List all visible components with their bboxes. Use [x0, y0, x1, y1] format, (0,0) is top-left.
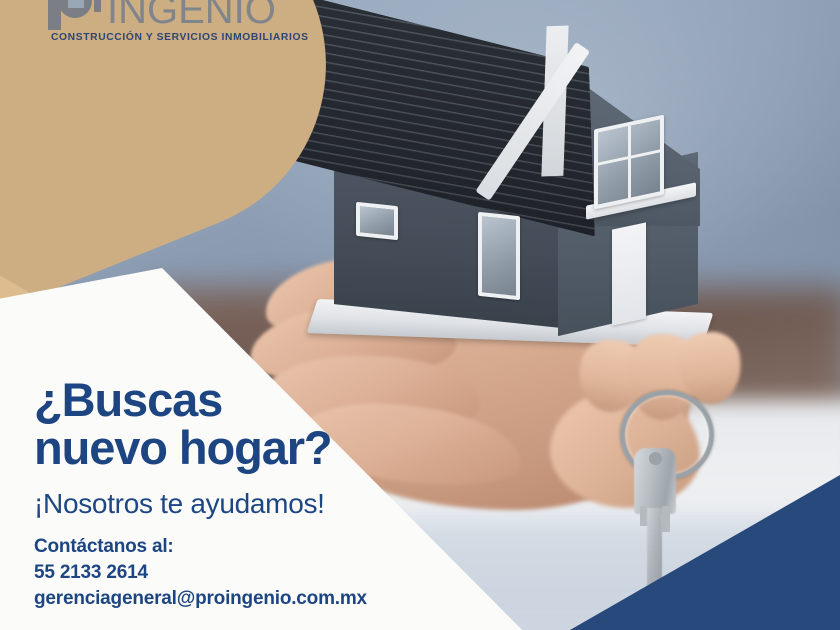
- page-title: ¿Buscas nuevo hogar?: [34, 376, 504, 472]
- contact-phone[interactable]: 55 2133 2614: [34, 560, 504, 586]
- subheadline: ¡Nosotros te ayudamos!: [34, 488, 504, 520]
- house-window-small: [356, 202, 398, 240]
- house-window-gable: [594, 115, 664, 210]
- logo-lockup: INGENIO: [48, 0, 348, 30]
- house-key-hole: [649, 452, 662, 465]
- house-door: [612, 222, 646, 325]
- proingenio-p-mark-icon: [48, 0, 102, 30]
- house-window-tall: [478, 212, 520, 300]
- logo-tagline: CONSTRUCCIÓN Y SERVICIOS INMOBILIARIOS: [51, 32, 348, 43]
- contact-label: Contáctanos al:: [34, 534, 504, 560]
- copy-block: ¿Buscas nuevo hogar? ¡Nosotros te ayudam…: [34, 376, 504, 612]
- logo-wordmark: INGENIO: [107, 0, 276, 30]
- model-house: [300, 18, 720, 348]
- contact-email[interactable]: gerenciageneral@proingenio.com.mx: [34, 586, 504, 612]
- promo-poster: INGENIO CONSTRUCCIÓN Y SERVICIOS INMOBIL…: [0, 0, 840, 630]
- contact-block: Contáctanos al: 55 2133 2614 gerenciagen…: [34, 534, 504, 612]
- brand-logo[interactable]: INGENIO CONSTRUCCIÓN Y SERVICIOS INMOBIL…: [48, 0, 348, 43]
- house-key-tooth: [662, 506, 670, 532]
